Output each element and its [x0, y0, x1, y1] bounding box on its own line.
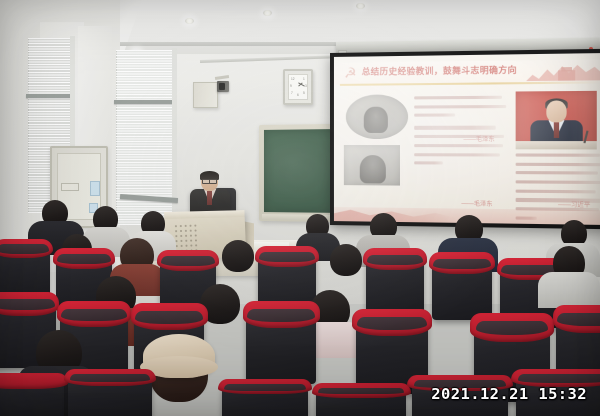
auditorium-seat[interactable] [432, 256, 492, 320]
presentation-slide: ☭ 总结历史经验教训，鼓舞斗志明确方向 [334, 53, 600, 225]
podium-top-lip [164, 210, 245, 219]
window-mullion-center [114, 100, 176, 104]
camera-timestamp: 2021.12.21 15:32 [431, 385, 587, 403]
person-head [222, 240, 254, 272]
seat-headrest-dark [476, 321, 549, 334]
downlight-5 [356, 3, 365, 9]
seat-headrest-dark [433, 259, 491, 269]
slide-right-signature: ——习近平 [558, 199, 590, 209]
tiananmen-graphic-icon [526, 59, 600, 81]
person-head [330, 244, 362, 276]
clock-face: 12 1 3 5 6 7 9 [288, 74, 308, 100]
seat-headrest-dark [0, 244, 49, 253]
cabinet-label-plate [61, 183, 79, 191]
historical-photo-oval [346, 94, 408, 139]
seat-headrest-dark [161, 256, 215, 266]
seat-headrest-dark [0, 299, 55, 311]
camera-lens-icon [219, 83, 225, 90]
party-emblem-icon: ☭ [343, 65, 358, 81]
presenter-tie [207, 191, 212, 205]
cabinet-sticker-blue [90, 181, 100, 196]
slide-left-signature: ——毛泽东 [463, 134, 494, 143]
auditorium-seat[interactable] [366, 252, 424, 316]
seat-headrest-red [0, 373, 68, 389]
seat-headrest-dark [357, 317, 426, 330]
seat-headrest-dark [518, 374, 600, 383]
portrait-tie [554, 122, 559, 138]
seat-headrest-dark [70, 374, 151, 382]
slide-left-text-block [414, 96, 509, 171]
slide-left-signature-bottom: ——毛泽东 [461, 198, 492, 208]
seat-headrest-dark [247, 309, 314, 321]
seat-headrest-dark [318, 388, 404, 395]
window-mullion-left [26, 94, 73, 98]
auditorium-seat[interactable] [222, 382, 308, 416]
seat-headrest-dark [224, 384, 307, 391]
seat-headrest-dark [135, 311, 202, 323]
presenter-glasses-icon [202, 179, 217, 182]
wall-clock: 12 1 3 5 6 7 9 [283, 69, 313, 105]
auditorium-seat[interactable] [0, 376, 64, 416]
auditorium-seat[interactable] [246, 306, 316, 384]
auditorium-seat[interactable] [68, 372, 152, 416]
downlight-3 [185, 18, 194, 24]
seat-headrest-dark [57, 254, 111, 264]
projection-screen: ☭ 总结历史经验教训，鼓舞斗志明确方向 [330, 49, 600, 230]
downlight-4 [263, 10, 272, 16]
speaker-portrait [516, 91, 597, 150]
seat-headrest-dark [259, 252, 315, 262]
camera-junction-box [193, 82, 218, 108]
person-shoulders [538, 272, 600, 308]
clock-digits: 12 1 3 5 6 7 9 [289, 75, 307, 99]
historical-photo-square [344, 145, 400, 186]
slide-title: 总结历史经验教训，鼓舞斗志明确方向 [362, 62, 554, 80]
lecture-hall-photo: 12 1 3 5 6 7 9 ☭ 总结历史经验教训，鼓舞 [0, 0, 600, 416]
seat-headrest-dark [61, 309, 126, 321]
seat-headrest-dark [367, 255, 423, 265]
auditorium-seat[interactable] [316, 386, 406, 416]
podium-perforation-panel [173, 223, 199, 252]
portrait-head [546, 100, 566, 122]
screen-surface: ☭ 总结历史经验教训，鼓舞斗志明确方向 [334, 53, 600, 225]
